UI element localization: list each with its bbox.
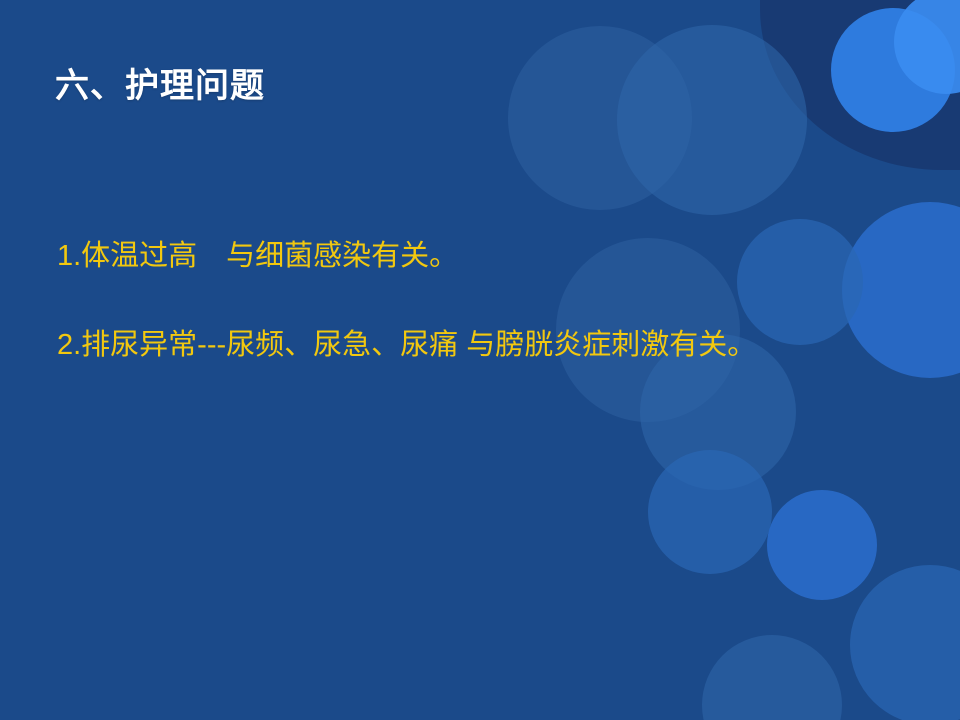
top-right-dark-wash — [760, 0, 960, 170]
bubble-faint-bottom-center — [702, 635, 842, 720]
nursing-problem-item-2: 2.排尿异常---尿频、尿急、尿痛 与膀胱炎症刺激有关。 — [57, 327, 907, 364]
slide-canvas: 六、护理问题 1.体温过高 与细菌感染有关。 2.排尿异常---尿频、尿急、尿痛… — [0, 0, 960, 720]
bubble-bright-top-right — [831, 8, 955, 132]
bubble-bright-top-corner — [894, 0, 960, 94]
body-text-block: 1.体温过高 与细菌感染有关。 2.排尿异常---尿频、尿急、尿痛 与膀胱炎症刺… — [57, 238, 907, 364]
bubble-faint-bottom-right — [850, 565, 960, 720]
bubble-faint-large-upper-left — [508, 26, 692, 210]
bubble-mid-lower-center — [648, 450, 772, 574]
nursing-problem-item-1: 1.体温过高 与细菌感染有关。 — [57, 238, 907, 275]
bubble-mid-lower-right — [767, 490, 877, 600]
page-title: 六、护理问题 — [55, 66, 265, 107]
bubble-faint-large-upper-right — [617, 25, 807, 215]
